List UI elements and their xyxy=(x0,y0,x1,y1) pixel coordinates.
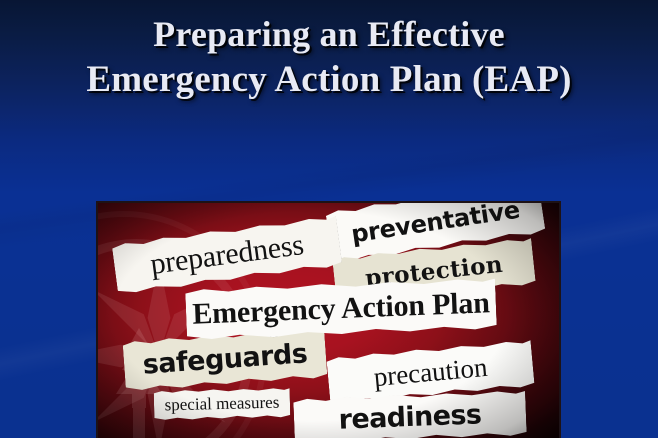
clipping-safeguards-label: safeguards xyxy=(142,338,309,380)
slide-title: Preparing an Effective Emergency Action … xyxy=(0,12,658,102)
title-line-1: Preparing an Effective xyxy=(0,12,658,57)
clipping-readiness-label: readiness xyxy=(338,399,482,435)
eap-collage-image: preventative preparedness protection Eme… xyxy=(96,201,561,438)
clipping-special-measures-label: special measures xyxy=(164,393,279,416)
clipping-special-measures: special measures xyxy=(154,387,291,420)
title-line-2: Emergency Action Plan (EAP) xyxy=(0,57,658,102)
presentation-slide: Preparing an Effective Emergency Action … xyxy=(0,0,658,438)
clipping-emergency-action-plan-label: Emergency Action Plan xyxy=(192,286,491,331)
clipping-precaution-label: precaution xyxy=(372,351,488,392)
